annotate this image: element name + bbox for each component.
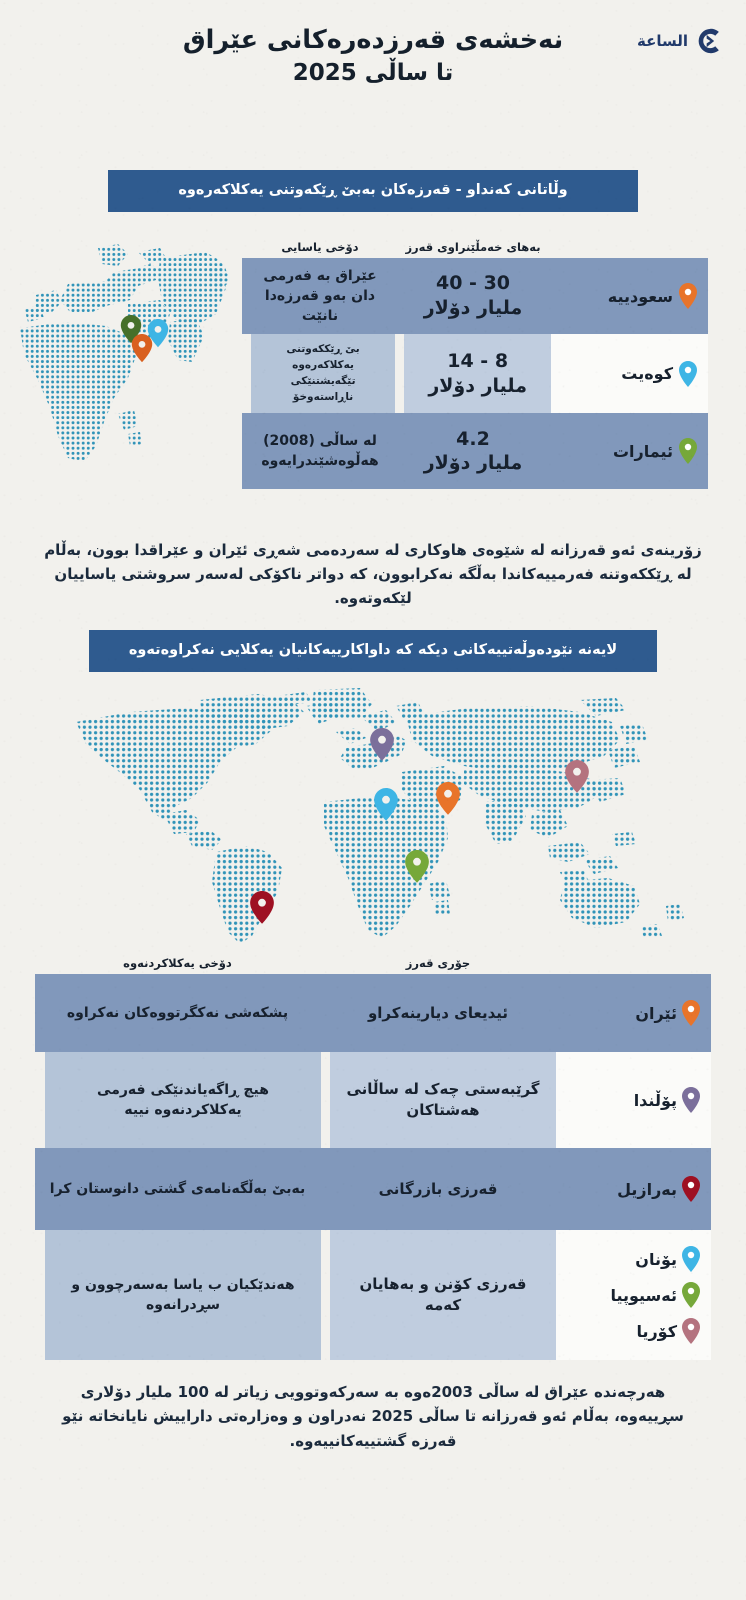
table-row[interactable]: کوەیت 8 - 14 ملیار دۆلار بێ ڕێککەوتنی یە… bbox=[242, 334, 708, 413]
row-country-cell: بەرازیل bbox=[556, 1148, 711, 1230]
gulf-creditors-table: بەهای خەمڵێنراوی قەرز دۆخی یاسایی سعودیی… bbox=[242, 230, 708, 490]
row-country-cell: کوەیت bbox=[551, 334, 708, 413]
country-label: یۆنان bbox=[635, 1250, 677, 1269]
row-country-cell: ئیمارات bbox=[548, 413, 708, 489]
row-type-cell: گرێبەستی چەک لە ساڵانی هەشتاکان bbox=[330, 1052, 556, 1148]
country-label: ئەسیوپیا bbox=[610, 1286, 677, 1305]
section1-paragraph: زۆرینەی ئەو قەرزانە لە شێوەی هاوکاری لە … bbox=[0, 538, 746, 611]
pin-iran-on-map bbox=[436, 782, 460, 815]
international-claims-table: جۆری قەرز دۆخی یەکلاکردنەوە ئێران ئیدیعا… bbox=[35, 946, 711, 1360]
country-label: کوەیت bbox=[621, 364, 673, 383]
amount-unit: ملیار دۆلار bbox=[428, 374, 527, 399]
amount-unit: ملیار دۆلار bbox=[424, 451, 523, 476]
amount-number: 4.2 bbox=[424, 427, 523, 452]
page-title: نەخشەی قەرزدەرەکانی عێراق bbox=[24, 24, 722, 57]
status-text: لە ساڵی (2008) هەڵوەشێندرایەوە bbox=[252, 431, 388, 472]
country-label: ئیمارات bbox=[613, 442, 673, 461]
amount-number: 8 - 14 bbox=[428, 349, 527, 374]
column-header-status: دۆخی یاسایی bbox=[242, 240, 398, 254]
row-amount-cell: 8 - 14 ملیار دۆلار bbox=[404, 334, 551, 413]
section2-banner: لایەنە نێودەوڵەتییەکانی دیکە کە داواکاری… bbox=[89, 630, 657, 672]
country-label: کۆریا bbox=[636, 1322, 677, 1341]
section2-paragraph: هەرچەندە عێراق لە ساڵی 2003ەوە بە سەرکەو… bbox=[0, 1380, 746, 1453]
map-pin-icon-brazil bbox=[681, 1175, 701, 1203]
status-text: عێراق بە فەرمی دان بەو قەرزەدا نانێت bbox=[252, 266, 388, 327]
world-landmass-dots bbox=[76, 688, 684, 944]
table-row[interactable]: بەرازیل قەرزی بازرگانی بەبێ بەڵگەنامەی گ… bbox=[35, 1148, 711, 1230]
country-label: بەرازیل bbox=[617, 1180, 677, 1199]
amount-number: 30 - 40 bbox=[424, 271, 523, 296]
world-dotted-map bbox=[60, 686, 686, 946]
column-header-type: جۆری قەرز bbox=[320, 956, 556, 970]
column-header-amount: بەهای خەمڵێنراوی قەرز bbox=[398, 240, 548, 254]
row-type-cell: قەرزی بازرگانی bbox=[320, 1148, 556, 1230]
row-country-cell: سعودییە bbox=[548, 258, 708, 335]
map-pin-icon-kuwait bbox=[678, 360, 698, 388]
debt-type-text: قەرزی کۆنن و بەهایان کەمە bbox=[340, 1274, 546, 1316]
eurafrasia-dotted-map bbox=[10, 222, 240, 507]
map-pin-icon-uae bbox=[678, 437, 698, 465]
map-pin-icon-korea bbox=[681, 1317, 701, 1345]
country-label: سعودییە bbox=[608, 287, 673, 306]
row-status-cell: بێ ڕێککەوتنی یەکلاکەرەوە تێگەیشتنێکی ناڕ… bbox=[251, 334, 395, 413]
status-text: هیچ ڕاگەیاندنێکی فەرمی یەکلاکردنەوە نییە bbox=[55, 1080, 311, 1121]
row-status-cell: پشکەشی نەکگرتووەکان نەکراوە bbox=[35, 974, 320, 1052]
table-row[interactable]: ئێران ئیدیعای دیارینەکراو پشکەشی نەکگرتو… bbox=[35, 974, 711, 1052]
map-pin-icon-ethiopia bbox=[681, 1281, 701, 1309]
brand-logo[interactable]: الساعة bbox=[637, 26, 724, 56]
status-text: هەندێکیان ب یاسا بەسەرچوون و سڕدرانەوە bbox=[55, 1275, 311, 1316]
country-label: ئێران bbox=[635, 1004, 677, 1023]
claims-table-column-headers: جۆری قەرز دۆخی یەکلاکردنەوە bbox=[35, 946, 711, 970]
amount-unit: ملیار دۆلار bbox=[424, 296, 523, 321]
status-text: پشکەشی نەکگرتووەکان نەکراوە bbox=[67, 1003, 288, 1023]
row-amount-cell: 4.2 ملیار دۆلار bbox=[398, 413, 548, 489]
map-pin-icon-greece bbox=[681, 1245, 701, 1273]
row-amount-cell: 30 - 40 ملیار دۆلار bbox=[398, 258, 548, 335]
row-type-cell: ئیدیعای دیارینەکراو bbox=[320, 974, 556, 1052]
column-header-status: دۆخی یەکلاکردنەوە bbox=[35, 956, 320, 970]
row-country-cell: پۆڵندا bbox=[556, 1052, 711, 1148]
row-status-cell: لە ساڵی (2008) هەڵوەشێندرایەوە bbox=[242, 413, 398, 489]
debt-type-text: قەرزی بازرگانی bbox=[379, 1179, 498, 1200]
status-text: بێ ڕێککەوتنی یەکلاکەرەوە تێگەیشتنێکی ناڕ… bbox=[261, 342, 385, 405]
debt-type-text: گرێبەستی چەک لە ساڵانی هەشتاکان bbox=[340, 1079, 546, 1121]
row-status-cell: بەبێ بەڵگەنامەی گشتی دانوستان کرا bbox=[35, 1148, 320, 1230]
table-row[interactable]: ئیمارات 4.2 ملیار دۆلار لە ساڵی (2008) ه… bbox=[242, 413, 708, 489]
table-row[interactable]: پۆڵندا گرێبەستی چەک لە ساڵانی هەشتاکان ه… bbox=[35, 1052, 711, 1148]
map-pin-icon-iran bbox=[681, 999, 701, 1027]
row-status-cell: هەندێکیان ب یاسا بەسەرچوون و سڕدرانەوە bbox=[45, 1230, 321, 1360]
brand-logo-text: الساعة bbox=[637, 32, 688, 50]
status-text: بەبێ بەڵگەنامەی گشتی دانوستان کرا bbox=[50, 1179, 305, 1199]
header-bar: الساعة نەخشەی قەرزدەرەکانی عێراق تا ساڵی… bbox=[0, 0, 746, 140]
map-pin-icon-poland bbox=[681, 1086, 701, 1114]
page-subtitle: تا ساڵی 2025 bbox=[24, 59, 722, 89]
table-row[interactable]: سعودییە 30 - 40 ملیار دۆلار عێراق بە فەر… bbox=[242, 258, 708, 335]
row-status-cell: هیچ ڕاگەیاندنێکی فەرمی یەکلاکردنەوە نییە bbox=[45, 1052, 321, 1148]
table-row[interactable]: یۆنان ئەسیوپیا کۆریا bbox=[35, 1230, 711, 1360]
section1-body: بەهای خەمڵێنراوی قەرز دۆخی یاسایی سعودیی… bbox=[0, 230, 746, 520]
country-label: پۆڵندا bbox=[634, 1091, 677, 1110]
gulf-table-column-headers: بەهای خەمڵێنراوی قەرز دۆخی یاسایی bbox=[242, 230, 708, 254]
row-type-cell: قەرزی کۆنن و بەهایان کەمە bbox=[330, 1230, 556, 1360]
debt-type-text: ئیدیعای دیارینەکراو bbox=[368, 1003, 508, 1024]
row-country-cell: یۆنان ئەسیوپیا کۆریا bbox=[556, 1230, 711, 1360]
map-pin-icon-saudi bbox=[678, 282, 698, 310]
circular-arrow-logo-icon bbox=[694, 26, 724, 56]
section1-banner: وڵاتانی کەنداو - قەرزەکان بەبێ ڕێکەوتنی … bbox=[108, 170, 638, 212]
row-status-cell: عێراق بە فەرمی دان بەو قەرزەدا نانێت bbox=[242, 258, 398, 335]
page-title-block: نەخشەی قەرزدەرەکانی عێراق تا ساڵی 2025 bbox=[24, 18, 722, 89]
row-country-cell: ئێران bbox=[556, 974, 711, 1052]
